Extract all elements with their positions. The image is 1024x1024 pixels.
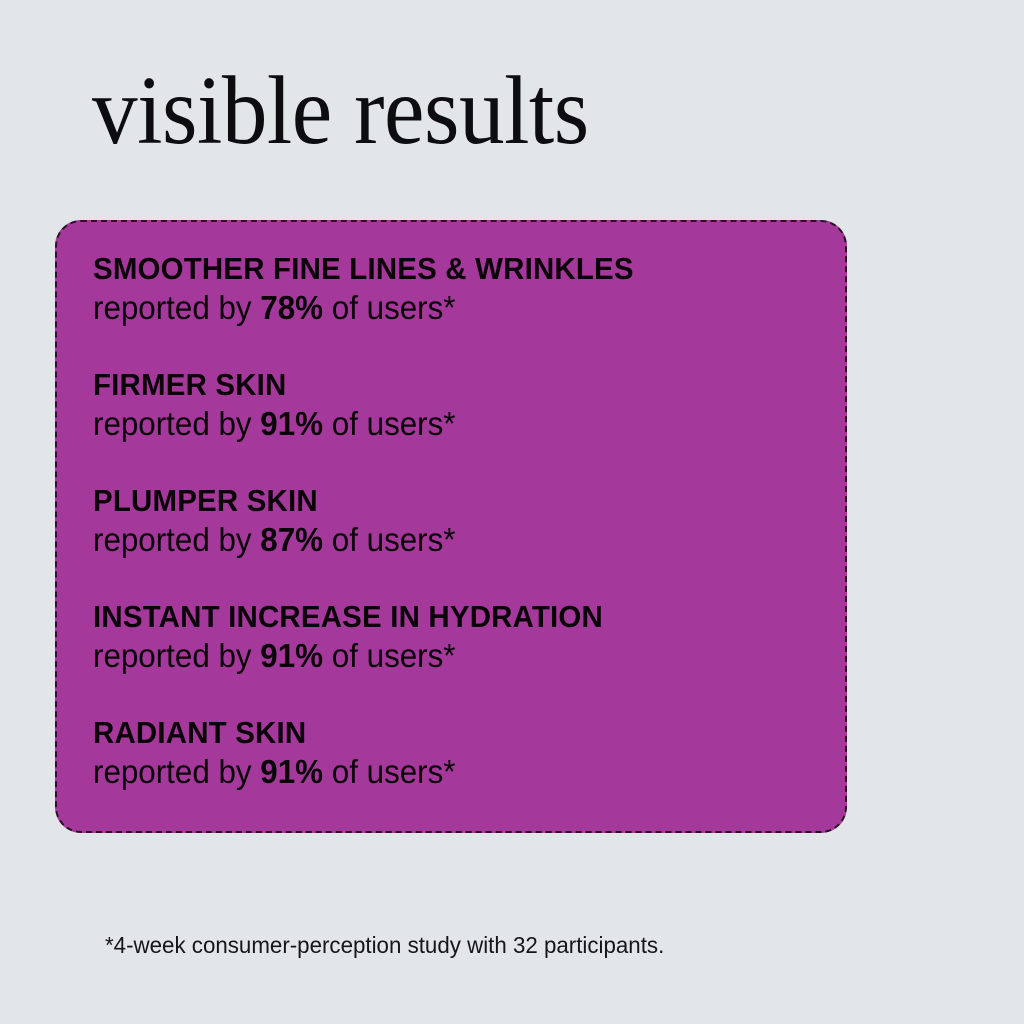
result-percent: 91%	[260, 405, 323, 442]
study-footnote: *4-week consumer-perception study with 3…	[105, 930, 664, 960]
result-prefix: reported by	[93, 289, 260, 326]
result-subtext: reported by 78% of users*	[93, 288, 788, 328]
result-heading: FIRMER SKIN	[93, 366, 788, 404]
result-heading: PLUMPER SKIN	[93, 482, 788, 520]
result-row: RADIANT SKINreported by 91% of users*	[93, 714, 825, 792]
result-subtext: reported by 91% of users*	[93, 404, 788, 444]
visible-results-page: visible results SMOOTHER FINE LINES & WR…	[0, 0, 1024, 1024]
page-title: visible results	[92, 62, 589, 160]
result-heading: INSTANT INCREASE IN HYDRATION	[93, 598, 788, 636]
result-row: SMOOTHER FINE LINES & WRINKLESreported b…	[93, 250, 825, 328]
result-suffix: of users*	[323, 753, 455, 790]
result-percent: 87%	[260, 521, 323, 558]
result-heading: SMOOTHER FINE LINES & WRINKLES	[93, 250, 788, 288]
result-percent: 78%	[260, 289, 323, 326]
result-percent: 91%	[260, 637, 323, 674]
result-suffix: of users*	[323, 521, 455, 558]
result-row: INSTANT INCREASE IN HYDRATIONreported by…	[93, 598, 825, 676]
result-percent: 91%	[260, 753, 323, 790]
results-list: SMOOTHER FINE LINES & WRINKLESreported b…	[93, 250, 825, 792]
result-suffix: of users*	[323, 637, 455, 674]
result-row: PLUMPER SKINreported by 87% of users*	[93, 482, 825, 560]
results-card: SMOOTHER FINE LINES & WRINKLESreported b…	[55, 220, 847, 833]
result-prefix: reported by	[93, 637, 260, 674]
result-subtext: reported by 91% of users*	[93, 752, 788, 792]
result-heading: RADIANT SKIN	[93, 714, 788, 752]
result-subtext: reported by 87% of users*	[93, 520, 788, 560]
result-prefix: reported by	[93, 405, 260, 442]
result-prefix: reported by	[93, 521, 260, 558]
result-prefix: reported by	[93, 753, 260, 790]
result-suffix: of users*	[323, 289, 455, 326]
result-suffix: of users*	[323, 405, 455, 442]
result-subtext: reported by 91% of users*	[93, 636, 788, 676]
result-row: FIRMER SKINreported by 91% of users*	[93, 366, 825, 444]
